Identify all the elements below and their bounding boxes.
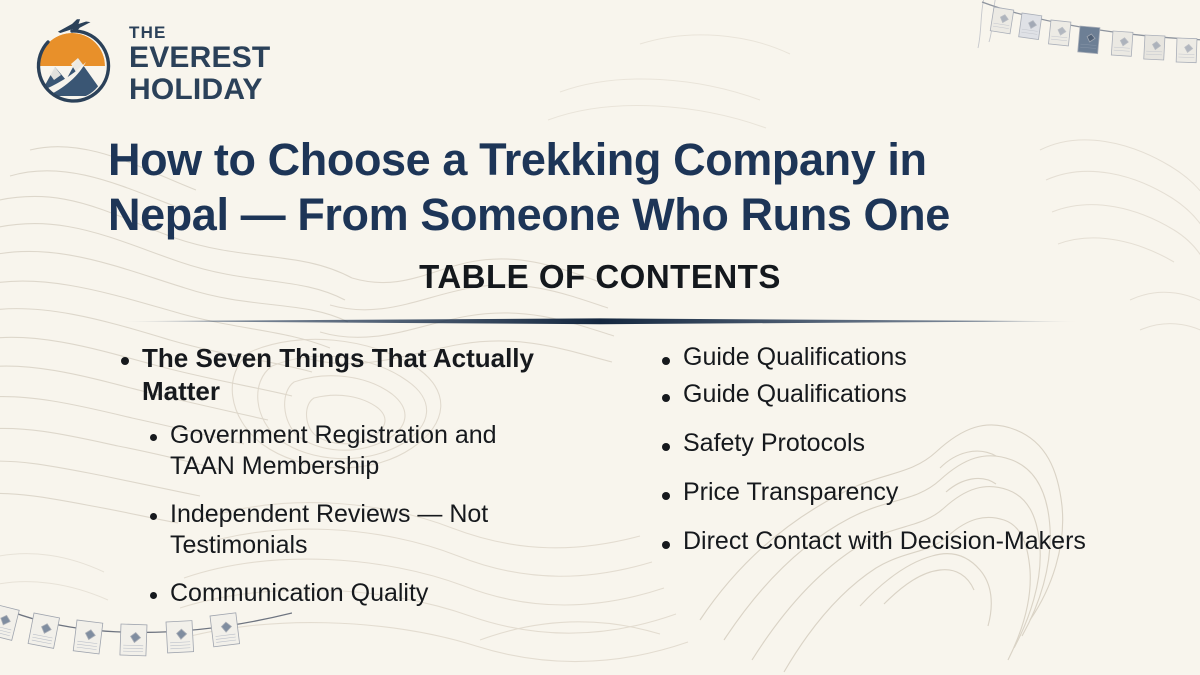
logo-wordmark: THE EVEREST HOLIDAY <box>129 24 270 105</box>
logo-text-the: THE <box>129 24 270 41</box>
toc-heading: TABLE OF CONTENTS <box>0 258 1200 296</box>
mountain-sun-airplane-circle-icon <box>26 18 118 110</box>
toc-left-list: The Seven Things That Actually Matter <box>118 342 560 408</box>
toc-left-column: The Seven Things That Actually Matter Go… <box>0 342 560 626</box>
toc-item[interactable]: Guide Qualifications <box>660 379 1090 410</box>
page-title: How to Choose a Trekking Company in Nepa… <box>108 133 1118 243</box>
toc-columns: The Seven Things That Actually Matter Go… <box>0 342 1200 626</box>
toc-item[interactable]: Guide Qualifications <box>660 342 1090 373</box>
toc-item[interactable]: Safety Protocols <box>660 428 1090 459</box>
page-title-line-1: How to Choose a Trekking Company in <box>108 133 1118 188</box>
slide-canvas: THE EVEREST HOLIDAY How to Choose a Trek… <box>0 0 1200 675</box>
toc-subitem[interactable]: Communication Quality <box>148 578 560 609</box>
toc-subitem[interactable]: Government Registration and TAAN Members… <box>148 420 560 482</box>
toc-item[interactable]: Direct Contact with Decision-Makers <box>660 526 1090 557</box>
toc-subitem[interactable]: Independent Reviews — Not Testimonials <box>148 499 560 561</box>
toc-item[interactable]: Price Transparency <box>660 477 1090 508</box>
toc-right-list: Guide Qualifications Guide Qualification… <box>660 342 1090 557</box>
brand-logo: THE EVEREST HOLIDAY <box>26 18 270 110</box>
prayer-flags-top-right <box>976 0 1200 86</box>
toc-item-main[interactable]: The Seven Things That Actually Matter <box>118 342 560 408</box>
page-title-line-2: Nepal — From Someone Who Runs One <box>108 188 1118 243</box>
section-divider <box>120 318 1080 325</box>
toc-left-sublist: Government Registration and TAAN Members… <box>148 420 560 609</box>
toc-right-column: Guide Qualifications Guide Qualification… <box>660 342 1090 575</box>
logo-text-everest: EVEREST <box>129 43 270 73</box>
logo-text-holiday: HOLIDAY <box>129 75 270 105</box>
